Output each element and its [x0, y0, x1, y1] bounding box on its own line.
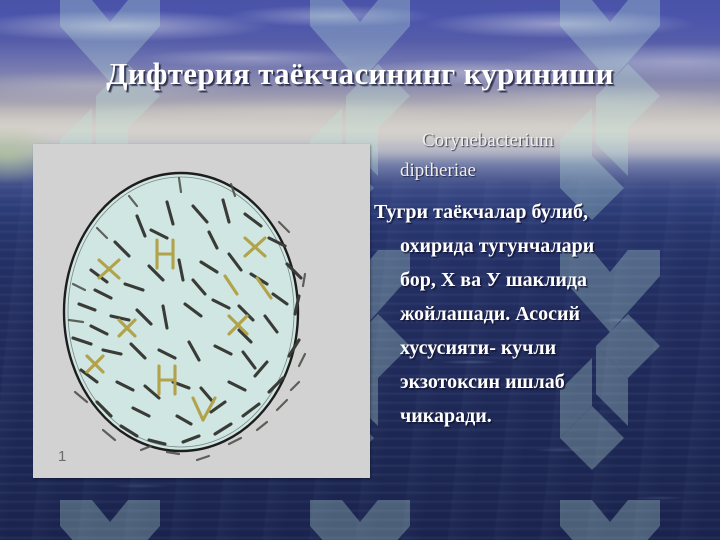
description-line-5: хусусияти- кучли	[372, 331, 708, 365]
slide-title: Дифтерия таёкчасининг куриниши	[0, 56, 720, 92]
description-line-4: жойлашади. Асосий	[372, 297, 708, 331]
slide-text-column: Corynebacterium diptheriae Тугри таёкчал…	[372, 126, 708, 433]
description-line-7: чикаради.	[372, 399, 708, 433]
description-paragraph: Тугри таёкчалар булиб, охирида тугунчала…	[372, 195, 708, 433]
species-line-1: Corynebacterium	[400, 126, 708, 156]
species-name: Corynebacterium diptheriae	[372, 126, 708, 186]
description-line-1: Тугри таёкчалар булиб,	[372, 195, 708, 229]
bacteria-smear-illustration	[33, 144, 370, 478]
description-line-6: экзотоксин ишлаб	[372, 365, 708, 399]
species-line-2: diptheriae	[400, 156, 708, 186]
microscopy-image-panel[interactable]	[33, 144, 370, 478]
slide-canvas: Дифтерия таёкчасининг куриниши	[0, 0, 720, 540]
description-line-2: охирида тугунчалари	[372, 229, 708, 263]
description-line-3: бор, Х ва У шаклида	[372, 263, 708, 297]
image-caption-number: 1	[58, 448, 66, 465]
